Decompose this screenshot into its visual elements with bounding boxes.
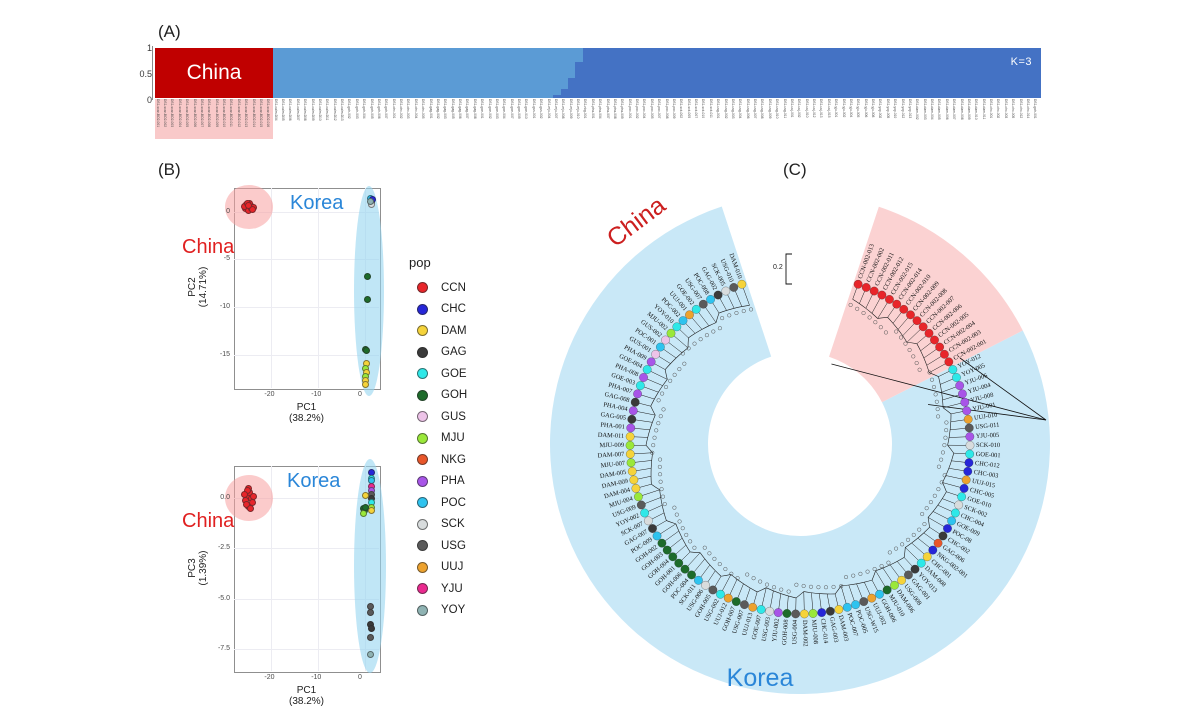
sample-id-cell: DS1-poc-009: [671, 99, 678, 139]
sample-id-label: DS1-calm-D05: [281, 99, 284, 121]
sample-id-label: DS1-calm-D12: [332, 99, 335, 121]
sample-id-label: DS1-goe-004: [502, 99, 505, 119]
admixture-cluster-korea-dark: [834, 48, 842, 98]
sample-id-label: DS1-usg-002: [723, 99, 726, 118]
admixture-cluster-korea-dark: [981, 48, 989, 98]
sample-id-label: DS1-ohc-005: [421, 99, 424, 118]
admixture-cluster-korea-dark: [900, 48, 908, 98]
admixture-cluster-korea-dark: [819, 48, 827, 98]
sample-id-cell: DS1-goe-001: [480, 99, 487, 139]
admixture-cluster-korea-dark: [775, 48, 783, 98]
sample-id-label: DS1-calm-D07: [296, 99, 299, 121]
tree-scale-bar-label: 0.2: [773, 264, 783, 271]
sample-id-label: DS1-mju-010: [576, 99, 579, 118]
admixture-cluster-korea-dark: [767, 48, 775, 98]
admixture-cluster-korea-dark: [590, 48, 598, 98]
sample-id-cell: DS1-calm-D09: [310, 99, 317, 139]
tree-tip-point: [954, 501, 962, 509]
admixture-cluster-korea-dark: [937, 48, 945, 98]
legend-item[interactable]: GUS: [409, 406, 489, 428]
pca-plot-pc1-pc3: -20-1000.0-2.5-5.0-7.5PC1(38.2%)PC3(1.39…: [150, 458, 400, 708]
legend-item[interactable]: UUJ: [409, 557, 489, 579]
sample-id-cell: DS1-scar-BO2-009: [214, 99, 221, 139]
sample-id-cell: DS1-goh-001: [1033, 99, 1040, 139]
circular-phylogenetic-tree: CCN-002-013CCN-002-002CCN-002-011CCN-002…: [520, 168, 1080, 720]
panel-c-korea-label: Korea: [727, 664, 794, 692]
sample-id-cell: DS1-mju-009: [568, 99, 575, 139]
y-axis-title-line1: PC3: [187, 558, 198, 577]
sample-id-cell: DS1-yju-002: [841, 99, 848, 139]
sample-id-label: DS1-goh-001: [1033, 99, 1036, 119]
admixture-cluster-korea-dark: [966, 48, 974, 98]
sample-id-label: DS1-dam-003: [922, 99, 925, 120]
admixture-cluster-korea-dark: [686, 48, 694, 98]
tree-tip-point: [651, 350, 659, 358]
sample-id-label: DS1-scar-BO2-015: [259, 99, 262, 127]
legend-item[interactable]: POC: [409, 492, 489, 514]
tree-tip-point: [923, 553, 931, 561]
admixture-cluster-korea-dark: [671, 48, 679, 98]
legend-item[interactable]: GOH: [409, 385, 489, 407]
tree-tip-point: [897, 576, 905, 584]
tree-tip-label: SCK-010: [976, 442, 1000, 449]
tree-tip-label: DAM-002: [801, 620, 809, 647]
sample-id-cell: DS1-calm-D06: [288, 99, 295, 139]
x-axis-title-line1: PC1: [297, 402, 316, 413]
tree-tip-point: [706, 295, 714, 303]
sample-id-cell: DS1-goh-003: [354, 99, 361, 139]
admixture-cluster-korea-dark: [959, 48, 967, 98]
tree-tip-point: [629, 407, 637, 415]
sample-id-label: DS1-dam-004: [930, 99, 933, 120]
scatter-point: [247, 505, 254, 512]
sample-id-cell: DS1-chc-014: [1025, 99, 1032, 139]
legend-item[interactable]: GOE: [409, 363, 489, 385]
sample-id-cell: DS1-chc-003: [1003, 99, 1010, 139]
sample-id-label: DS1-ohc-001: [391, 99, 394, 118]
admixture-cluster-korea-dark: [789, 48, 797, 98]
sample-id-label: DS1-scar-BO2-001: [155, 99, 158, 127]
admixture-cluster-korea-dark: [974, 48, 982, 98]
sample-id-cell: DS1-calm-D04: [273, 99, 280, 139]
sample-id-label: DS1-scar-BO2-004: [178, 99, 181, 127]
sample-id-cell: DS1-sck-005: [686, 99, 693, 139]
tree-tip-point: [957, 493, 965, 501]
sample-id-cell: DS1-dam-004: [929, 99, 936, 139]
tree-tip-point: [694, 576, 702, 584]
tree-tip-point: [749, 603, 757, 611]
gridline-vertical: [318, 466, 319, 671]
sample-id-label: DS1-goh-006: [377, 99, 380, 119]
tree-tip-point: [949, 365, 957, 373]
sample-id-label: DS1-ohc-002: [399, 99, 402, 118]
sample-id-cell: DS1-sck-011: [708, 99, 715, 139]
sample-id-label: DS1-sck-005: [686, 99, 689, 118]
gridline-horizontal: [234, 649, 379, 650]
scatter-point: [241, 491, 248, 498]
sample-id-label: DS1-poc-002: [635, 99, 638, 118]
x-axis-title-line1: PC1: [297, 685, 316, 696]
y-axis-title: PC2(14.71%): [187, 247, 209, 327]
tree-tip-point: [701, 581, 709, 589]
tree-tip-point: [653, 532, 661, 540]
sample-id-label: DS1-gag-008: [473, 99, 476, 119]
sample-id-cell: DS1-goh-004: [362, 99, 369, 139]
tree-tip-point: [917, 559, 925, 567]
sample-id-cell: DS1-gus-002: [539, 99, 546, 139]
tree-tip-point: [934, 539, 942, 547]
sample-id-cell: DS1-sck-002: [679, 99, 686, 139]
sample-id-cell: DS1-yoy-012: [900, 99, 907, 139]
sample-id-cell: DS1-scar-BO2-001: [155, 99, 162, 139]
legend-swatch-goe: [417, 368, 428, 379]
sample-id-cell: DS1-calm-D12: [332, 99, 339, 139]
y-tick-label: -15: [152, 351, 230, 358]
tree-tip-point: [860, 597, 868, 605]
tree-tip-point: [925, 329, 933, 337]
sample-id-label: DS1-yju-001: [834, 99, 837, 117]
sample-id-label: DS1-yoy-002: [878, 99, 881, 118]
china-label: China: [182, 236, 234, 259]
tree-tip-point: [738, 280, 746, 288]
sample-id-cell: DS1-usg-006: [745, 99, 752, 139]
legend-label: YOY: [441, 604, 465, 616]
sample-id-label: DS1-usg-003: [731, 99, 734, 118]
sample-id-label: DS1-goe-009: [517, 99, 520, 119]
sample-id-cell: DS1-scar-BO2-010: [221, 99, 228, 139]
sample-id-label: DS1-calm-D11: [325, 99, 328, 120]
sample-id-cell: DS1-sck-010: [701, 99, 708, 139]
legend-item[interactable]: YOY: [409, 600, 489, 622]
sample-id-cell: DS1-scar-BO2-004: [177, 99, 184, 139]
tree-tip-point: [843, 603, 851, 611]
panel-a-y-tick: 0.5: [139, 70, 152, 79]
tree-tip-point: [732, 597, 740, 605]
sample-id-cell: DS1-scar-BO2-013: [244, 99, 251, 139]
y-axis-title-line1: PC2: [187, 277, 198, 296]
admixture-cluster-korea-dark: [649, 48, 657, 98]
sample-id-label: DS1-yoy-012: [900, 99, 903, 118]
y-axis-title: PC3(1.39%): [187, 528, 209, 608]
sample-id-cell: DS1-uuj-013: [819, 99, 826, 139]
sample-id-cell: DS1-usg-002: [723, 99, 730, 139]
sample-id-label: DS1-yoy-013: [908, 99, 911, 118]
korea-label: Korea: [290, 192, 343, 215]
sample-id-label: DS1-sck-002: [679, 99, 682, 118]
tree-tip-point: [854, 280, 862, 288]
sample-id-cell: DS1-dam-010: [974, 99, 981, 139]
sample-id-label: DS1-usg-008: [760, 99, 763, 118]
admixture-cluster-korea-dark: [620, 48, 628, 98]
sample-id-cell: DS1-chc-005: [1011, 99, 1018, 139]
sample-id-label: DS1-yju-008: [871, 99, 874, 117]
sample-id-label: DS1-calm-D09: [310, 99, 313, 121]
sample-id-label: DS1-gag-007: [465, 99, 468, 119]
legend-swatch-poc: [417, 497, 428, 508]
sample-id-label: DS1-scar-BO2-006: [192, 99, 195, 127]
sample-id-label: DS1-dam-009: [967, 99, 970, 120]
sample-id-cell: DS1-goe-002: [487, 99, 494, 139]
sample-id-cell: DS1-goe-009: [516, 99, 523, 139]
tree-tip-point: [929, 546, 937, 554]
sample-id-label: DS1-scar-BO2-007: [200, 99, 203, 127]
sample-id-cell: DS1-calm-D10: [317, 99, 324, 139]
sample-id-cell: DS1-ohc-004: [413, 99, 420, 139]
tree-tip-point: [692, 305, 700, 313]
sample-id-label: DS1-goe-003: [495, 99, 498, 119]
china-label: China: [182, 510, 234, 533]
sample-id-cell: DS1-yju-008: [870, 99, 877, 139]
legend-label: POC: [441, 497, 466, 509]
legend-item[interactable]: CHC: [409, 299, 489, 321]
legend-item[interactable]: YJU: [409, 578, 489, 600]
admixture-cluster-korea-dark: [952, 48, 960, 98]
sample-id-cell: DS1-dam-006: [944, 99, 951, 139]
panel-a-k-label: K=3: [1011, 56, 1032, 68]
tree-tip-point: [628, 467, 636, 475]
tree-tip-point: [639, 373, 647, 381]
admixture-cluster-korea-dark: [553, 95, 561, 99]
scatter-point: [364, 296, 371, 303]
tree-tip-point: [667, 329, 675, 337]
admixture-cluster-korea-dark: [929, 48, 937, 98]
legend-item[interactable]: MJU: [409, 428, 489, 450]
legend-item[interactable]: GAG: [409, 342, 489, 364]
tree-tip-point: [730, 283, 738, 291]
tree-tip-point: [637, 501, 645, 509]
sample-id-cell: DS1-calm-D05: [280, 99, 287, 139]
tree-tip-point: [966, 432, 974, 440]
sample-id-cell: DS1-goh-002: [347, 99, 354, 139]
x-axis-title-line2: (38.2%): [289, 696, 324, 707]
sample-id-label: DS1-usg-009: [768, 99, 771, 118]
tree-tip-point: [883, 586, 891, 594]
sample-id-label: DS1-goh-005: [369, 99, 372, 119]
admixture-cluster-korea-dark: [915, 48, 923, 98]
sample-id-cell: DS1-scar-BO2-011: [229, 99, 236, 139]
tree-tip-point: [630, 476, 638, 484]
legend-swatch-uuj: [417, 562, 428, 573]
y-tick-label: 0.0: [152, 494, 230, 501]
admixture-cluster-korea-dark: [996, 48, 1004, 98]
scatter-point: [362, 504, 369, 511]
admixture-cluster-korea-dark: [804, 48, 812, 98]
sample-id-cell: DS1-dam-009: [966, 99, 973, 139]
sample-id-cell: DS1-yju-006: [863, 99, 870, 139]
admixture-cluster-korea-dark: [708, 48, 716, 98]
tree-tip-point: [627, 459, 635, 467]
admixture-cluster-korea-dark: [745, 48, 753, 98]
sample-id-label: DS1-usg-011: [782, 99, 785, 118]
sample-id-cell: DS1-pha-009: [620, 99, 627, 139]
admixture-cluster-korea-dark: [893, 48, 901, 98]
sample-id-label: DS1-calm-D06: [288, 99, 291, 121]
scatter-point: [362, 492, 369, 499]
x-tick-label: -10: [311, 391, 321, 398]
tree-tip-point: [656, 343, 664, 351]
admixture-cluster-korea-dark: [657, 48, 665, 98]
tree-tip-point: [648, 524, 656, 532]
sample-id-cell: DS1-mju-010: [575, 99, 582, 139]
tree-tip-point: [669, 553, 677, 561]
tree-tip-point: [940, 350, 948, 358]
legend-item[interactable]: DAM: [409, 320, 489, 342]
x-tick-label: 0: [358, 391, 362, 398]
tree-tip-point: [835, 605, 843, 613]
sample-id-cell: DS1-mju-008: [561, 99, 568, 139]
legend-swatch-nkg: [417, 454, 428, 465]
legend-label: GOH: [441, 389, 467, 401]
sample-id-cell: DS1-nkg-001: [583, 99, 590, 139]
sample-id-cell: DS1-yju-004: [848, 99, 855, 139]
admixture-cluster-korea-dark: [738, 48, 746, 98]
sample-id-cell: DS1-goe-007: [509, 99, 516, 139]
sample-id-label: DS1-uuj-012: [812, 99, 815, 118]
legend-label: GUS: [441, 411, 466, 423]
tree-tip-point: [893, 300, 901, 308]
sample-id-label: DS1-yju-005: [856, 99, 859, 117]
legend-item[interactable]: CCN: [409, 277, 489, 299]
panel-a-china-label: China: [155, 48, 273, 98]
tree-tip-point: [885, 295, 893, 303]
tree-tip-point: [643, 365, 651, 373]
tree-tip-point: [868, 594, 876, 602]
sample-id-label: DS1-pha-001: [591, 99, 594, 119]
sample-id-label: DS1-pha-007: [605, 99, 608, 119]
admixture-cluster-korea-dark: [826, 48, 834, 98]
tree-tip-point: [800, 610, 808, 618]
sample-id-cell: DS1-scar-BO2-012: [236, 99, 243, 139]
admixture-cluster-korea-dark: [752, 48, 760, 98]
sample-id-cell: DS1-ohc-001: [391, 99, 398, 139]
tree-tip-point: [966, 450, 974, 458]
sample-id-label: DS1-chc-005: [1011, 99, 1014, 118]
tree-tip-point: [911, 565, 919, 573]
sample-id-cell: DS1-calm-D08: [303, 99, 310, 139]
sample-id-cell: DS1-dam-003: [922, 99, 929, 139]
sample-id-cell: DS1-pha-007: [605, 99, 612, 139]
panel-a-axis-line: [152, 46, 153, 100]
sample-id-label: DS1-dam-005: [937, 99, 940, 120]
sample-id-cell: DS1-yju-005: [856, 99, 863, 139]
tree-tip-point: [687, 571, 695, 579]
sample-id-label: DS1-yju-002: [841, 99, 844, 117]
sample-id-label: DS1-goh-003: [355, 99, 358, 119]
sample-id-label: DS1-poc-004: [642, 99, 645, 118]
legend-item[interactable]: NKG: [409, 449, 489, 471]
admixture-cluster-korea-dark: [878, 48, 886, 98]
sample-id-cell: DS1-goh-005: [369, 99, 376, 139]
tree-tip-point: [964, 467, 972, 475]
admixture-cluster-korea-dark: [716, 48, 724, 98]
admixture-cluster-korea-dark: [782, 48, 790, 98]
admixture-cluster-korea-dark: [1033, 48, 1041, 98]
tree-tip-point: [709, 586, 717, 594]
sample-id-label: DS1-gus-002: [539, 99, 542, 118]
sample-id-label: DS1-scar-BO2-005: [185, 99, 188, 127]
x-axis-title: PC1(38.2%): [234, 685, 379, 707]
sample-id-cell: DS1-ohc-003: [406, 99, 413, 139]
admixture-cluster-korea-dark: [885, 48, 893, 98]
tree-tip-label: MJU-009: [599, 442, 624, 449]
admixture-cluster-korea-dark: [863, 48, 871, 98]
legend-swatch-gus: [417, 411, 428, 422]
sample-id-label: DS1-uuj-001: [790, 99, 793, 118]
legend-item[interactable]: SCK: [409, 514, 489, 536]
sample-id-cell: DS1-dam-008: [959, 99, 966, 139]
gridline-vertical: [271, 188, 272, 388]
sample-id-cell: DS1-goe-010: [524, 99, 531, 139]
sample-id-label: DS1-yoy-005: [886, 99, 889, 118]
sample-id-cell: DS1-scar-BO2-015: [258, 99, 265, 139]
sample-id-label: DS1-poc-005: [650, 99, 653, 118]
sample-id-cell: DS1-poc-001: [627, 99, 634, 139]
sample-id-cell: DS1-gus-001: [531, 99, 538, 139]
legend-label: UUJ: [441, 561, 463, 573]
tree-tip-point: [658, 539, 666, 547]
tree-tip-point: [906, 311, 914, 319]
sample-id-cell: DS1-poc-005: [649, 99, 656, 139]
admixture-cluster-korea-dark: [922, 48, 930, 98]
sample-id-cell: DS1-dam-007: [952, 99, 959, 139]
tree-tip-point: [958, 390, 966, 398]
scatter-point: [368, 625, 375, 632]
sample-id-cell: DS1-dam-002: [915, 99, 922, 139]
gridline-vertical: [318, 188, 319, 388]
admixture-cluster-korea-dark: [848, 48, 856, 98]
scatter-point: [360, 510, 367, 517]
tree-tip-point: [875, 590, 883, 598]
tree-tip-point: [818, 608, 826, 616]
sample-id-label: DS1-scar-BO2-014: [251, 99, 254, 127]
legend-label: CCN: [441, 282, 466, 294]
tree-tip-point: [809, 609, 817, 617]
tree-tip-point: [636, 381, 644, 389]
sample-id-label: DS1-sck-011: [709, 99, 712, 118]
sample-id-cell: DS1-gag-008: [472, 99, 479, 139]
legend-item[interactable]: USG: [409, 535, 489, 557]
sample-id-cell: DS1-uuj-001: [789, 99, 796, 139]
sample-id-cell: DS1-poc-008: [664, 99, 671, 139]
legend-swatch-goh: [417, 390, 428, 401]
tree-tip-point: [826, 607, 834, 615]
sample-id-cell: DS1-scar-BO2-008: [207, 99, 214, 139]
tree-scale-bar: 0.2: [773, 264, 783, 271]
legend-title: pop: [409, 255, 489, 270]
tree-tip-point: [632, 484, 640, 492]
legend-item[interactable]: PHA: [409, 471, 489, 493]
sample-id-label: DS1-pha-004: [598, 99, 601, 119]
sample-id-cell: DS1-scar-BO2-007: [199, 99, 206, 139]
sample-id-label: DS1-yju-004: [849, 99, 852, 117]
sample-id-label: DS1-poc-008: [664, 99, 667, 118]
sample-id-cell: DS1-uuj-010: [804, 99, 811, 139]
tree-tip-point: [644, 517, 652, 525]
sample-id-label: DS1-gag-006: [458, 99, 461, 119]
sample-id-label: DS1-usg-010: [775, 99, 778, 118]
sample-id-label: DS1-uuj-010: [804, 99, 807, 118]
tree-tip-point: [722, 287, 730, 295]
sample-id-cell: DS1-gag-005: [450, 99, 457, 139]
sample-id-label: DS1-dam-007: [952, 99, 955, 120]
admixture-cluster-korea-dark: [701, 48, 709, 98]
sample-id-label: DS1-dam-002: [915, 99, 918, 120]
sample-id-cell: DS1-goh-007: [384, 99, 391, 139]
sample-id-cell: DS1-uuj-012: [811, 99, 818, 139]
tree-tip-point: [661, 336, 669, 344]
admixture-cluster-korea-dark: [679, 48, 687, 98]
sample-id-label: DS1-dam-006: [945, 99, 948, 120]
